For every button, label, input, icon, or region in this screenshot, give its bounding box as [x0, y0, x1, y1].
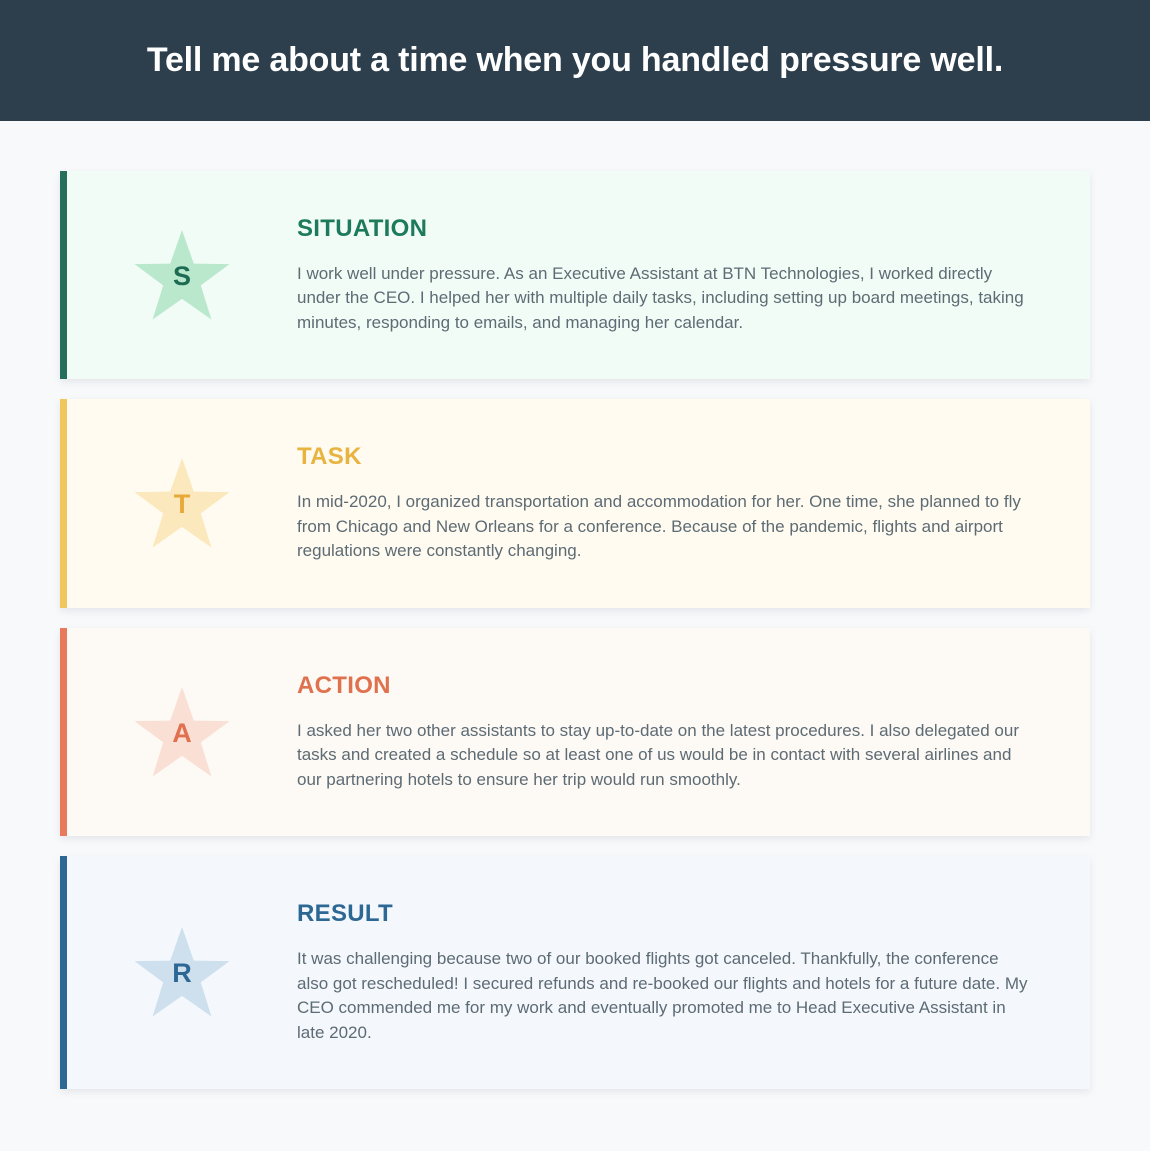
star-letter-action: A	[172, 720, 192, 747]
action-icon-column: A	[67, 628, 297, 836]
star-method-card-list: S SITUATION I work well under pressure. …	[60, 171, 1090, 1089]
task-body: TASK In mid-2020, I organized transporta…	[297, 399, 1090, 607]
result-text: It was challenging because two of our bo…	[297, 947, 1030, 1045]
situation-text: I work well under pressure. As an Execut…	[297, 262, 1030, 335]
star-icon: S	[132, 228, 232, 323]
star-card-task: T TASK In mid-2020, I organized transpor…	[60, 399, 1090, 607]
star-card-situation: S SITUATION I work well under pressure. …	[60, 171, 1090, 379]
result-body: RESULT It was challenging because two of…	[297, 856, 1090, 1089]
result-icon-column: R	[67, 856, 297, 1089]
page-header: Tell me about a time when you handled pr…	[0, 0, 1150, 121]
star-letter-result: R	[172, 960, 192, 987]
task-text: In mid-2020, I organized transportation …	[297, 490, 1030, 563]
page-title: Tell me about a time when you handled pr…	[147, 40, 1003, 81]
action-heading: ACTION	[297, 672, 1030, 700]
action-body: ACTION I asked her two other assistants …	[297, 628, 1090, 836]
task-icon-column: T	[67, 399, 297, 607]
star-card-action: A ACTION I asked her two other assistant…	[60, 628, 1090, 836]
situation-heading: SITUATION	[297, 215, 1030, 243]
star-icon: A	[132, 685, 232, 780]
main-content: S SITUATION I work well under pressure. …	[0, 121, 1150, 1151]
star-icon: R	[132, 925, 232, 1020]
star-icon: T	[132, 456, 232, 551]
star-card-result: R RESULT It was challenging because two …	[60, 856, 1090, 1089]
situation-icon-column: S	[67, 171, 297, 379]
task-heading: TASK	[297, 443, 1030, 471]
action-text: I asked her two other assistants to stay…	[297, 719, 1030, 792]
situation-body: SITUATION I work well under pressure. As…	[297, 171, 1090, 379]
result-heading: RESULT	[297, 900, 1030, 928]
star-letter-task: T	[174, 491, 191, 518]
star-letter-situation: S	[173, 263, 191, 290]
